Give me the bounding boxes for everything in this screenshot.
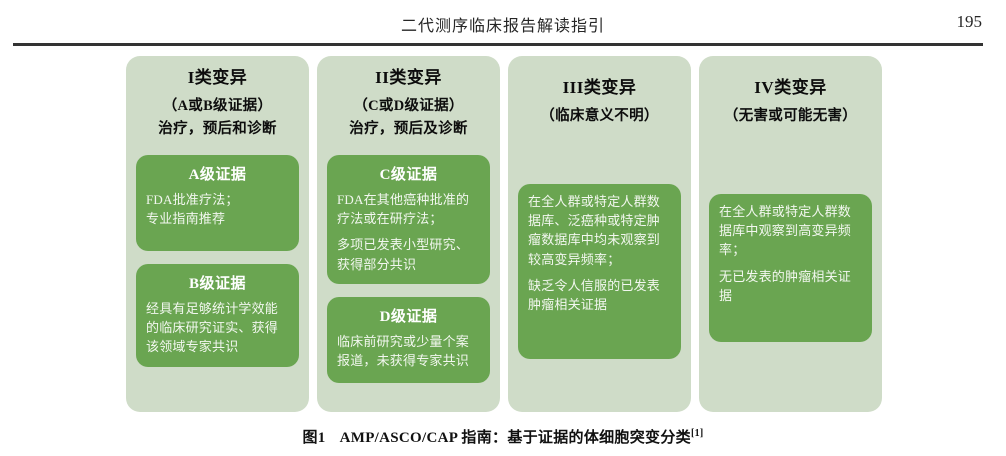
page-number: 195 <box>957 12 983 32</box>
evidence-level-box-a-paragraph-1: FDA批准疗法； <box>146 190 289 209</box>
evidence-level-box-a-paragraph-2: 专业指南推荐 <box>146 209 289 228</box>
variant-tier-card-1: I类变异 （A或B级证据） 治疗，预后和诊断 A级证据 FDA批准疗法； 专业指… <box>126 56 309 412</box>
variant-tier-card-4: IV类变异 （无害或可能无害） 在全人群或特定人群数据库中观察到高变异频率； 无… <box>699 56 882 412</box>
figure-amp-asco-cap-classification: I类变异 （A或B级证据） 治疗，预后和诊断 A级证据 FDA批准疗法； 专业指… <box>0 56 1006 416</box>
variant-tier-4-description-box: 在全人群或特定人群数据库中观察到高变异频率； 无已发表的肿瘤相关证据 <box>709 194 872 342</box>
card-1-subtitle: （A或B级证据） <box>134 95 301 118</box>
card-3-title: III类变异 <box>516 76 683 101</box>
evidence-level-box-d-title: D级证据 <box>337 305 480 326</box>
variant-tier-3-paragraph-1: 在全人群或特定人群数据库、泛癌种或特定肿瘤数据库中均未观察到较高变异频率； <box>528 192 671 269</box>
variant-tier-3-description-box: 在全人群或特定人群数据库、泛癌种或特定肿瘤数据库中均未观察到较高变异频率； 缺乏… <box>518 184 681 359</box>
figure-caption-label: 图1 <box>303 430 326 446</box>
header-rule-divider <box>13 43 983 46</box>
figure-caption-reference: [1] <box>691 428 704 439</box>
card-3-subtitle: （临床意义不明） <box>516 105 683 128</box>
card-4-subtitle: （无害或可能无害） <box>707 105 874 128</box>
evidence-level-box-a: A级证据 FDA批准疗法； 专业指南推荐 <box>136 155 299 251</box>
variant-tier-4-paragraph-2: 无已发表的肿瘤相关证据 <box>719 267 862 305</box>
card-4-header: IV类变异 （无害或可能无害） <box>707 66 874 128</box>
card-3-header: III类变异 （临床意义不明） <box>516 66 683 128</box>
figure-columns: I类变异 （A或B级证据） 治疗，预后和诊断 A级证据 FDA批准疗法； 专业指… <box>126 56 886 412</box>
evidence-level-box-c-title: C级证据 <box>337 163 480 184</box>
card-1-title: I类变异 <box>134 66 301 91</box>
figure-caption: 图1AMP/ASCO/CAP 指南：基于证据的体细胞突变分类[1] <box>0 426 1006 447</box>
variant-tier-4-paragraph-1: 在全人群或特定人群数据库中观察到高变异频率； <box>719 202 862 260</box>
evidence-level-box-b: B级证据 经具有足够统计学效能的临床研究证实、获得该领域专家共识 <box>136 264 299 367</box>
variant-tier-3-paragraph-2: 缺乏令人信服的已发表肿瘤相关证据 <box>528 276 671 314</box>
evidence-level-box-b-title: B级证据 <box>146 272 289 293</box>
evidence-level-box-d: D级证据 临床前研究或少量个案报道，未获得专家共识 <box>327 297 490 383</box>
evidence-level-box-d-paragraph-1: 临床前研究或少量个案报道，未获得专家共识 <box>337 332 480 370</box>
card-2-title: II类变异 <box>325 66 492 91</box>
running-head-title: 二代测序临床报告解读指引 <box>0 12 1006 36</box>
evidence-level-box-c-paragraph-1: FDA在其他癌种批准的疗法或在研疗法； <box>337 190 480 228</box>
card-2-header: II类变异 （C或D级证据） 治疗，预后及诊断 <box>325 66 492 141</box>
card-1-header: I类变异 （A或B级证据） 治疗，预后和诊断 <box>134 66 301 141</box>
evidence-level-box-b-paragraph-1: 经具有足够统计学效能的临床研究证实、获得该领域专家共识 <box>146 299 289 357</box>
evidence-level-box-c: C级证据 FDA在其他癌种批准的疗法或在研疗法； 多项已发表小型研究、获得部分共… <box>327 155 490 284</box>
variant-tier-card-3: III类变异 （临床意义不明） 在全人群或特定人群数据库、泛癌种或特定肿瘤数据库… <box>508 56 691 412</box>
evidence-level-box-c-paragraph-2: 多项已发表小型研究、获得部分共识 <box>337 235 480 273</box>
evidence-level-box-a-title: A级证据 <box>146 163 289 184</box>
card-2-subtitle: （C或D级证据） <box>325 95 492 118</box>
figure-caption-text: AMP/ASCO/CAP 指南：基于证据的体细胞突变分类 <box>340 430 691 446</box>
card-4-title: IV类变异 <box>707 76 874 101</box>
variant-tier-card-2: II类变异 （C或D级证据） 治疗，预后及诊断 C级证据 FDA在其他癌种批准的… <box>317 56 500 412</box>
page-header: 二代测序临床报告解读指引 195 <box>0 12 1006 38</box>
card-1-subtitle-secondary: 治疗，预后和诊断 <box>134 118 301 141</box>
card-2-subtitle-secondary: 治疗，预后及诊断 <box>325 118 492 141</box>
